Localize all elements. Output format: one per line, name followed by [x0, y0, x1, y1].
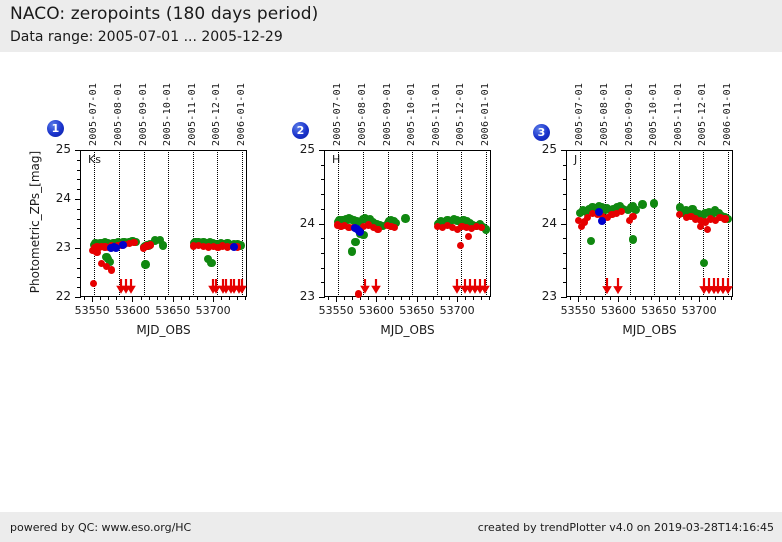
date-tick-label: 2005-07-01 [332, 74, 343, 146]
upper-limit-arrow [722, 278, 734, 294]
x-minor-tickmark [667, 296, 668, 300]
date-tick-label: 2005-11-01 [673, 74, 684, 146]
date-tick-label: 2006-01-01 [480, 74, 491, 146]
date-tick-label: 2005-12-01 [455, 74, 466, 146]
gridline [679, 150, 680, 297]
x-axis-title: MJD_OBS [304, 323, 511, 337]
x-minor-tickmark [586, 296, 587, 300]
x-minor-tickmark [675, 296, 676, 300]
x-minor-tickmark [610, 296, 611, 300]
gridline [654, 150, 655, 297]
date-tick-label: 2005-07-01 [574, 74, 585, 146]
x-minor-tickmark [385, 296, 386, 300]
y-minor-tickmark [321, 209, 325, 210]
x-minor-tickmark [393, 296, 394, 300]
x-tick-label: 53700 [669, 304, 729, 317]
data-point-blue [595, 208, 603, 216]
x-minor-tickmark [368, 296, 369, 300]
y-minor-tickmark [563, 297, 567, 298]
x-minor-tickmark [336, 296, 337, 300]
upper-limit-arrow [479, 279, 491, 294]
band-label-3: J [574, 153, 577, 166]
x-minor-tickmark [691, 296, 692, 300]
upper-limit-arrow [370, 279, 382, 294]
date-tick-label: 2005-11-01 [431, 74, 442, 146]
x-minor-tickmark [425, 296, 426, 300]
y-minor-tickmark [321, 150, 325, 151]
date-tick-label: 2005-12-01 [697, 74, 708, 146]
x-minor-tickmark [481, 296, 482, 300]
x-minor-tickmark [457, 296, 458, 300]
x-minor-tickmark [417, 296, 418, 300]
x-minor-tickmark [683, 296, 684, 300]
data-point-green [629, 235, 637, 243]
x-minor-tickmark [715, 296, 716, 300]
y-tick-label: 24 [524, 216, 557, 230]
y-tick-label: 23 [282, 289, 315, 303]
x-minor-tickmark [570, 296, 571, 300]
x-minor-tickmark [602, 296, 603, 300]
x-minor-tickmark [578, 296, 579, 300]
y-minor-tickmark [321, 238, 325, 239]
data-point-red [457, 242, 464, 249]
y-minor-tickmark [563, 238, 567, 239]
x-minor-tickmark [344, 296, 345, 300]
data-point-red [629, 213, 636, 220]
data-point-red [704, 226, 711, 233]
x-minor-tickmark [731, 296, 732, 300]
gridline [412, 150, 413, 297]
data-point-green [351, 238, 359, 246]
y-minor-tickmark [321, 297, 325, 298]
x-minor-tickmark [489, 296, 490, 300]
x-minor-tickmark [441, 296, 442, 300]
x-minor-tickmark [699, 296, 700, 300]
y-tick-label: 23 [524, 289, 557, 303]
footer-credit-right: created by trendPlotter v4.0 on 2019-03-… [478, 521, 774, 534]
y-minor-tickmark [563, 282, 567, 283]
panel-number-badge-3: 3 [533, 124, 550, 141]
y-minor-tickmark [563, 224, 567, 225]
x-minor-tickmark [328, 296, 329, 300]
data-point-blue [598, 217, 606, 225]
y-tick-label: 25 [524, 142, 557, 156]
data-point-green [348, 247, 356, 255]
data-point-green [650, 199, 658, 207]
upper-limit-arrow [601, 278, 613, 294]
upper-limit-arrow [359, 279, 371, 294]
y-minor-tickmark [563, 194, 567, 195]
date-tick-label: 2005-08-01 [599, 74, 610, 146]
x-minor-tickmark [433, 296, 434, 300]
y-minor-tickmark [321, 194, 325, 195]
data-point-red [391, 224, 398, 231]
y-minor-tickmark [321, 282, 325, 283]
x-axis-title: MJD_OBS [546, 323, 753, 337]
x-minor-tickmark [707, 296, 708, 300]
date-tick-label: 2006-01-01 [722, 74, 733, 146]
y-tick-label: 25 [282, 142, 315, 156]
x-minor-tickmark [376, 296, 377, 300]
date-tick-label: 2005-10-01 [406, 74, 417, 146]
x-minor-tickmark [618, 296, 619, 300]
y-tick-label: 24 [282, 216, 315, 230]
upper-limit-arrow [612, 278, 624, 294]
plot-panel-3: 3J2005-07-012005-08-012005-09-012005-10-… [0, 0, 260, 340]
x-minor-tickmark [465, 296, 466, 300]
y-minor-tickmark [563, 150, 567, 151]
y-minor-tickmark [321, 179, 325, 180]
x-minor-tickmark [643, 296, 644, 300]
x-minor-tickmark [659, 296, 660, 300]
data-point-green [401, 214, 409, 222]
x-minor-tickmark [651, 296, 652, 300]
y-minor-tickmark [563, 179, 567, 180]
x-minor-tickmark [723, 296, 724, 300]
y-minor-tickmark [563, 165, 567, 166]
panel-number-badge-2: 2 [292, 122, 309, 139]
date-tick-label: 2005-10-01 [648, 74, 659, 146]
date-tick-label: 2005-09-01 [624, 74, 635, 146]
data-point-red [374, 226, 381, 233]
x-minor-tickmark [473, 296, 474, 300]
x-minor-tickmark [409, 296, 410, 300]
x-minor-tickmark [594, 296, 595, 300]
x-minor-tickmark [449, 296, 450, 300]
y-minor-tickmark [563, 268, 567, 269]
gridline [486, 150, 487, 297]
band-label-2: H [332, 153, 340, 166]
y-minor-tickmark [321, 268, 325, 269]
gridline [728, 150, 729, 297]
x-minor-tickmark [401, 296, 402, 300]
date-tick-label: 2005-08-01 [357, 74, 368, 146]
y-minor-tickmark [321, 224, 325, 225]
x-minor-tickmark [635, 296, 636, 300]
y-minor-tickmark [321, 253, 325, 254]
y-minor-tickmark [563, 253, 567, 254]
y-minor-tickmark [563, 209, 567, 210]
y-minor-tickmark [321, 165, 325, 166]
date-tick-label: 2005-09-01 [382, 74, 393, 146]
x-minor-tickmark [352, 296, 353, 300]
data-point-red [721, 215, 728, 222]
x-tick-label: 53700 [427, 304, 487, 317]
data-point-green [638, 200, 646, 208]
footer-credit-left: powered by QC: www.eso.org/HC [10, 521, 191, 534]
x-minor-tickmark [627, 296, 628, 300]
